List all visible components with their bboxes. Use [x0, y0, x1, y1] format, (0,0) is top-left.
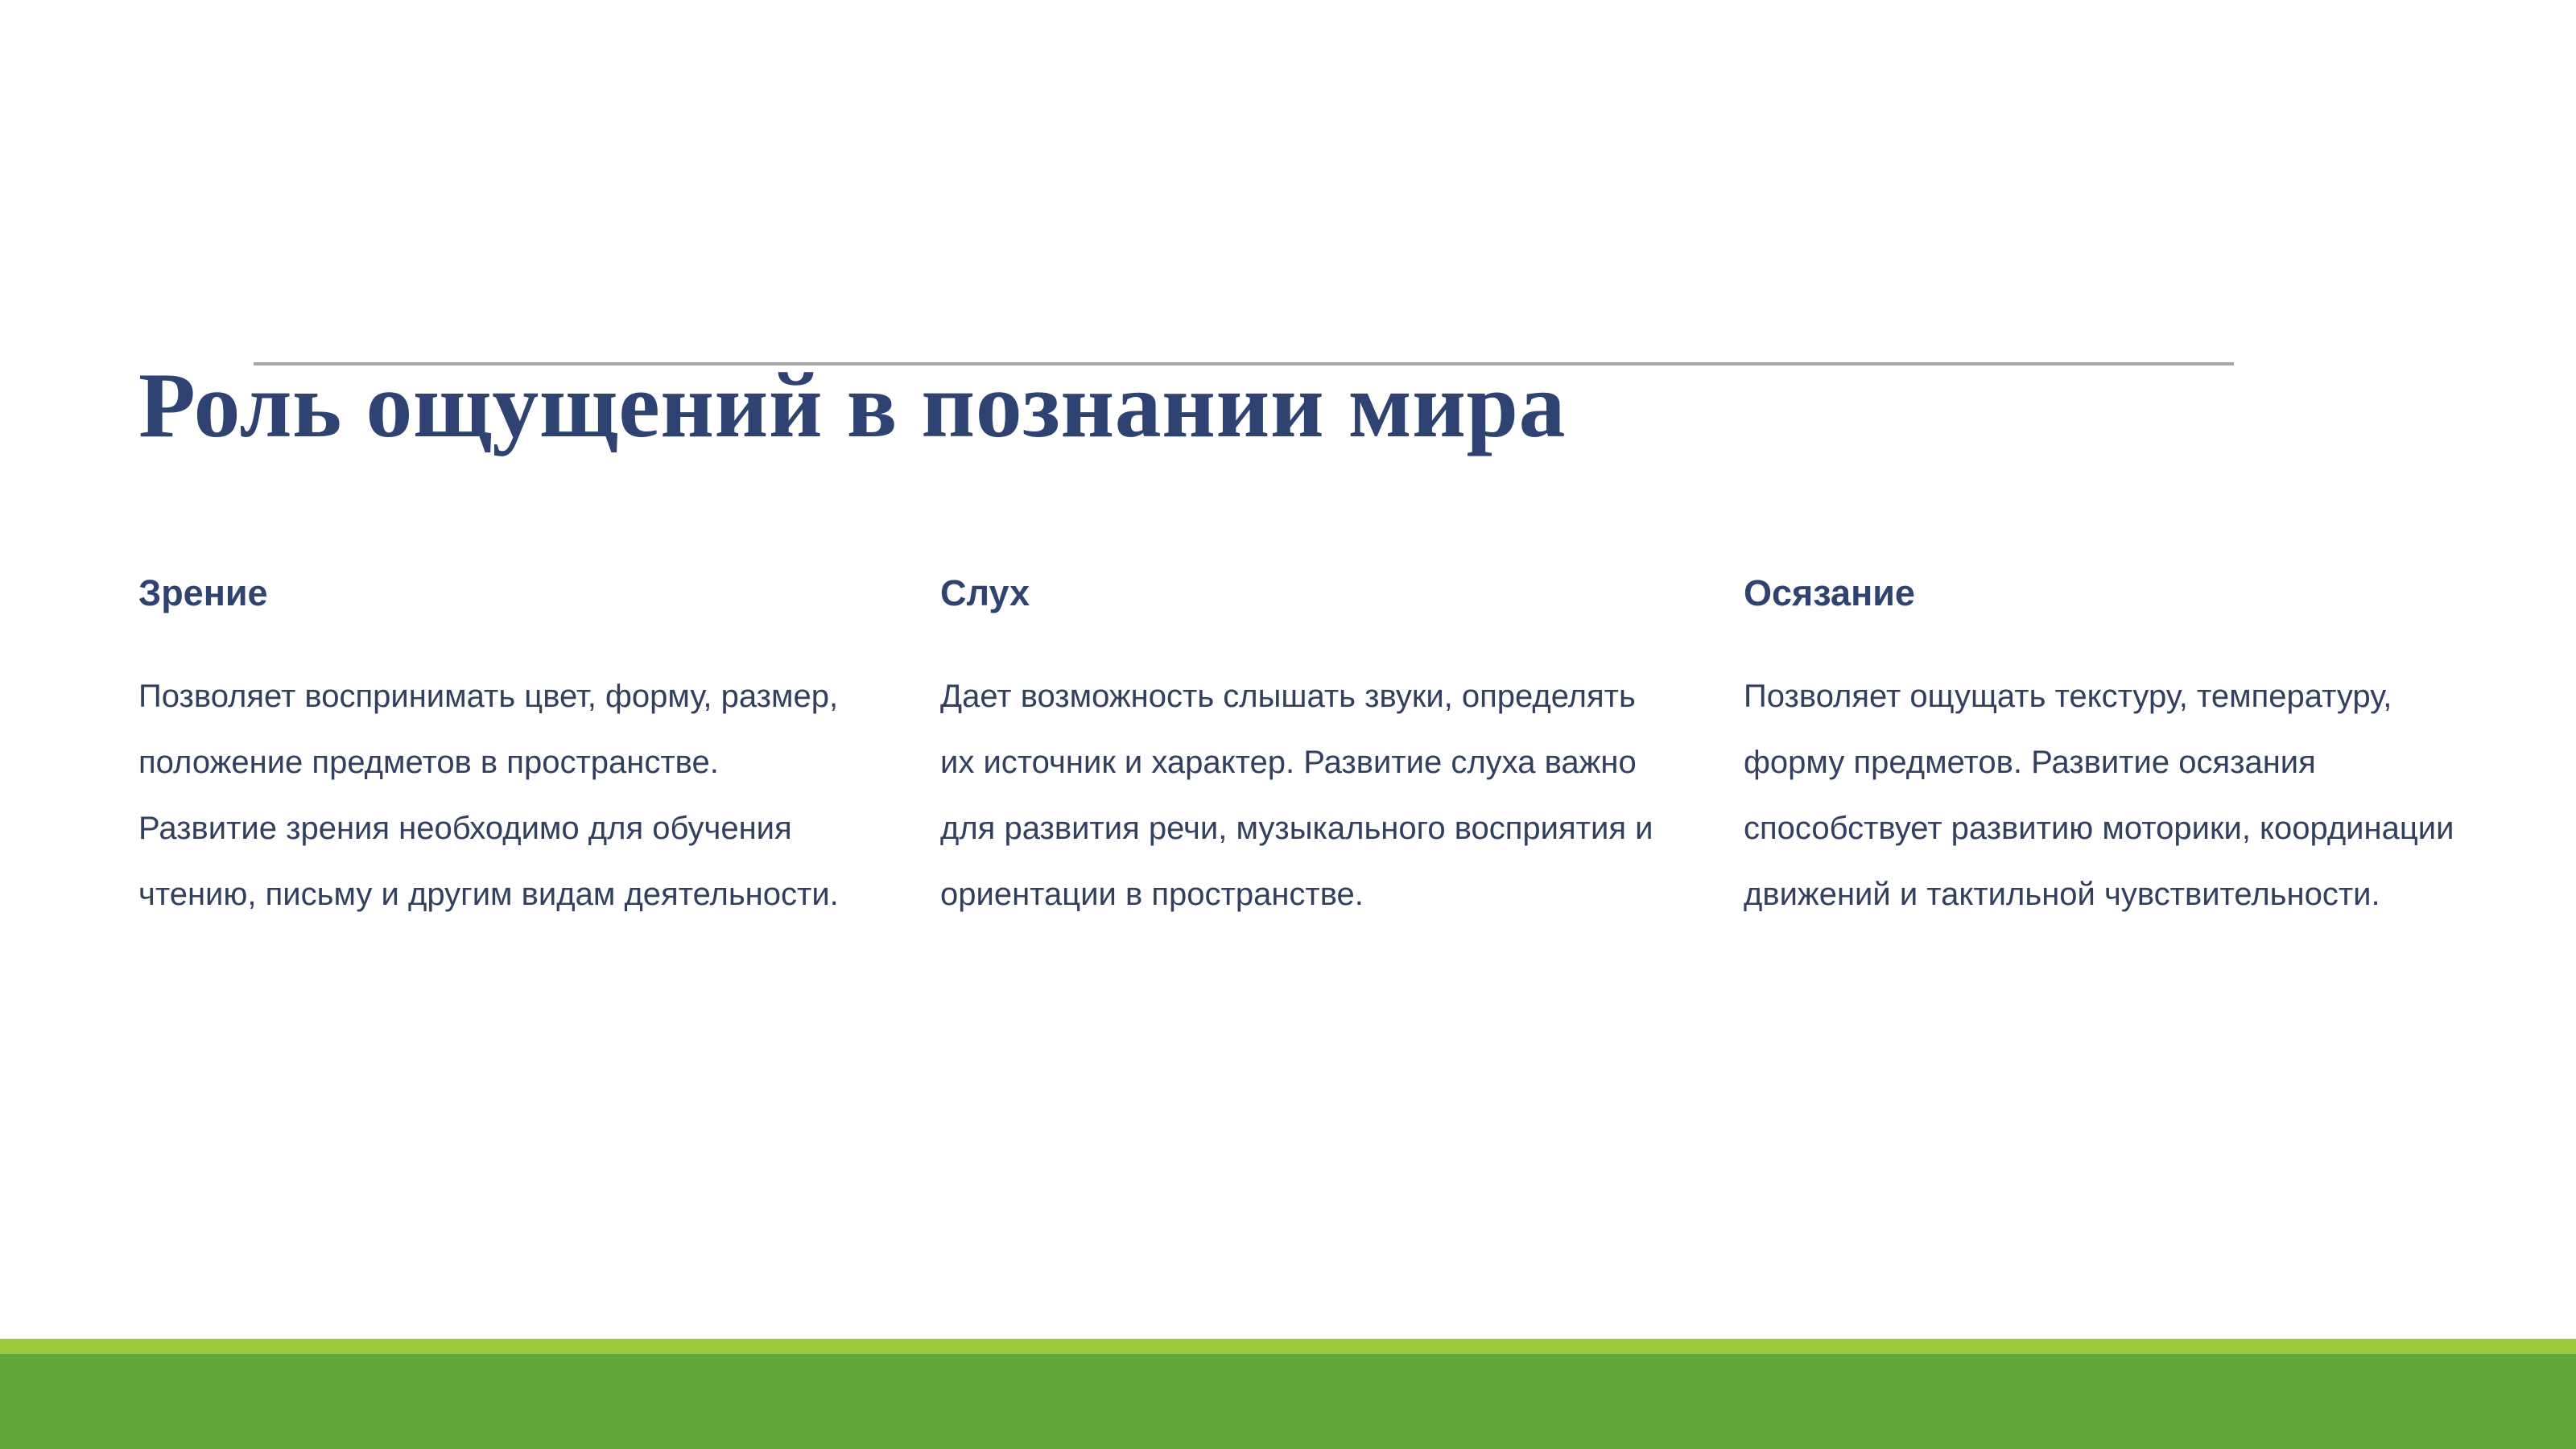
column-heading-hearing: Слух	[940, 573, 1657, 613]
senses-columns-container: Зрение Позволяет воспринимать цвет, форм…	[138, 573, 2457, 927]
footer-accent-bar-dark	[0, 1354, 2576, 1449]
column-body-vision: Позволяет воспринимать цвет, форму, разм…	[138, 663, 855, 927]
footer-accent-bar-light	[0, 1339, 2576, 1354]
column-touch: Осязание Позволяет ощущать текстуру, тем…	[1744, 573, 2492, 927]
presentation-slide: Роль ощущений в познании мира Зрение Поз…	[0, 0, 2576, 1449]
column-heading-touch: Осязание	[1744, 573, 2492, 613]
column-body-touch: Позволяет ощущать текстуру, температуру,…	[1744, 663, 2492, 927]
page-title: Роль ощущений в познании мира	[138, 348, 2312, 464]
column-heading-vision: Зрение	[138, 573, 855, 613]
column-hearing: Слух Дает возможность слышать звуки, опр…	[940, 573, 1657, 927]
column-body-hearing: Дает возможность слышать звуки, определя…	[940, 663, 1657, 927]
column-vision: Зрение Позволяет воспринимать цвет, форм…	[138, 573, 855, 927]
